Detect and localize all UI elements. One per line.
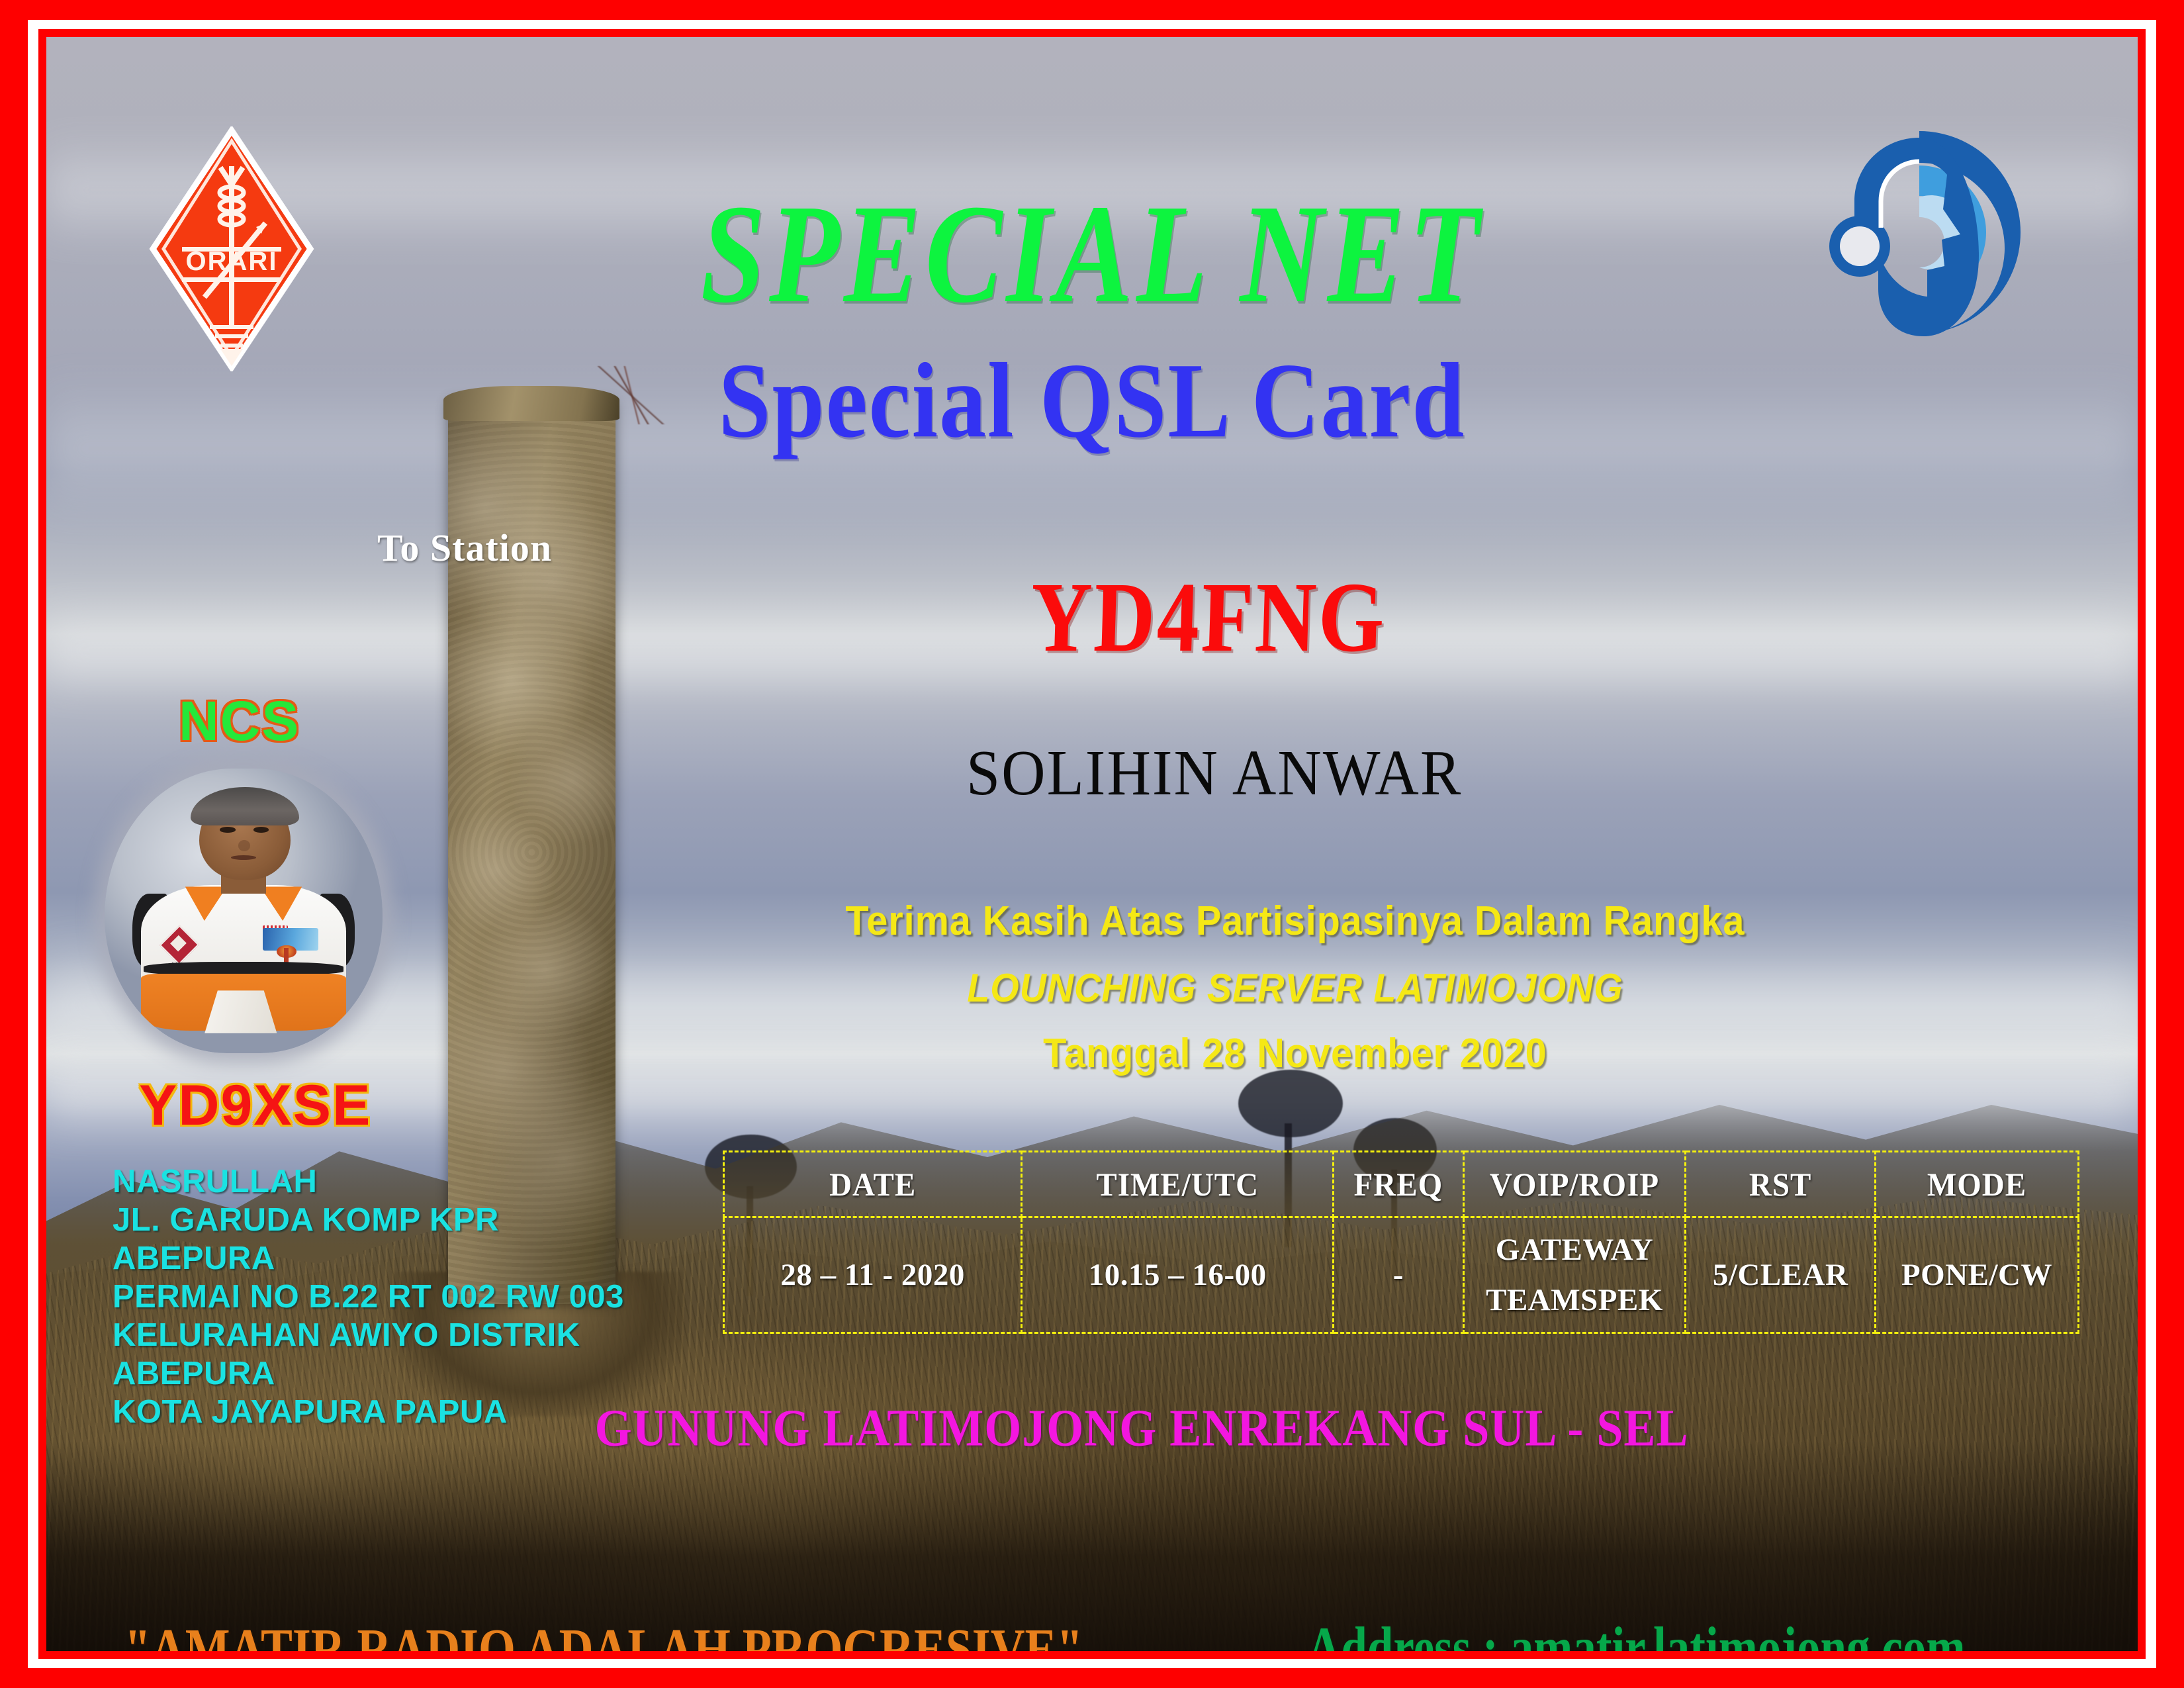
cell-voip: GATEWAY TEAMSPEK bbox=[1463, 1217, 1686, 1333]
header-title: SPECIAL NET bbox=[46, 173, 2138, 335]
slogan-text: "AMATIR RADIO ADALAH PROGRESIVE" bbox=[124, 1617, 1083, 1651]
cell-freq: - bbox=[1334, 1217, 1464, 1333]
ncs-callsign: YD9XSE bbox=[139, 1073, 371, 1139]
event-line: LOUNCHING SERVER LATIMOJONG bbox=[120, 965, 2065, 1011]
cell-time: 10.15 – 16-00 bbox=[1022, 1217, 1334, 1333]
table-header-rst: RST bbox=[1686, 1150, 1876, 1219]
card-photo-plate: ORARI bbox=[46, 37, 2138, 1651]
table-header-mode: MODE bbox=[1875, 1150, 2078, 1219]
address-line: KOTA JAYAPURA PAPUA bbox=[113, 1393, 695, 1431]
address-line: JL. GARUDA KOMP KPR bbox=[113, 1201, 695, 1239]
address-line: PERMAI NO B.22 RT 002 RW 003 bbox=[113, 1278, 695, 1316]
address-line: ABEPURA bbox=[113, 1239, 695, 1278]
event-date-line: Tanggal 28 November 2020 bbox=[120, 1030, 2065, 1077]
ncs-label: NCS bbox=[179, 689, 300, 753]
table-header-voip: VOIP/ROIP bbox=[1463, 1150, 1686, 1219]
table-header-date: DATE bbox=[724, 1150, 1022, 1219]
qsl-card: ORARI bbox=[0, 0, 2184, 1688]
table-row: 28 – 11 - 2020 10.15 – 16-00 - GATEWAY T… bbox=[724, 1217, 2079, 1333]
station-name: SOLIHIN ANWAR bbox=[966, 735, 1462, 810]
to-station-label: To Station bbox=[377, 526, 552, 570]
table-header-row: DATE TIME/UTC FREQ VOIP/ROIP RST MODE bbox=[724, 1152, 2079, 1217]
cell-mode: PONE/CW bbox=[1875, 1217, 2078, 1333]
cell-date: 28 – 11 - 2020 bbox=[724, 1217, 1022, 1333]
cell-rst: 5/CLEAR bbox=[1686, 1217, 1876, 1333]
cell-voip-line1: GATEWAY bbox=[1465, 1225, 1685, 1275]
website-address: Address : amatir.latimojong.com bbox=[1307, 1615, 1966, 1651]
address-line: KELURAHAN AWIYO DISTRIK bbox=[113, 1316, 695, 1354]
qso-log-table: DATE TIME/UTC FREQ VOIP/ROIP RST MODE 28… bbox=[723, 1150, 2079, 1334]
header-subtitle: Special QSL Card bbox=[46, 338, 2138, 462]
address-line: ABEPURA bbox=[113, 1354, 695, 1393]
station-callsign: YD4FNG bbox=[1029, 560, 1388, 675]
address-block: NASRULLAH JL. GARUDA KOMP KPR ABEPURA PE… bbox=[113, 1162, 695, 1431]
cell-voip-line2: TEAMSPEK bbox=[1465, 1275, 1685, 1325]
address-line: NASRULLAH bbox=[113, 1162, 695, 1201]
thanks-line: Terima Kasih Atas Partisipasinya Dalam R… bbox=[120, 898, 2065, 945]
table-header-freq: FREQ bbox=[1334, 1150, 1464, 1219]
table-header-time: TIME/UTC bbox=[1022, 1150, 1334, 1219]
